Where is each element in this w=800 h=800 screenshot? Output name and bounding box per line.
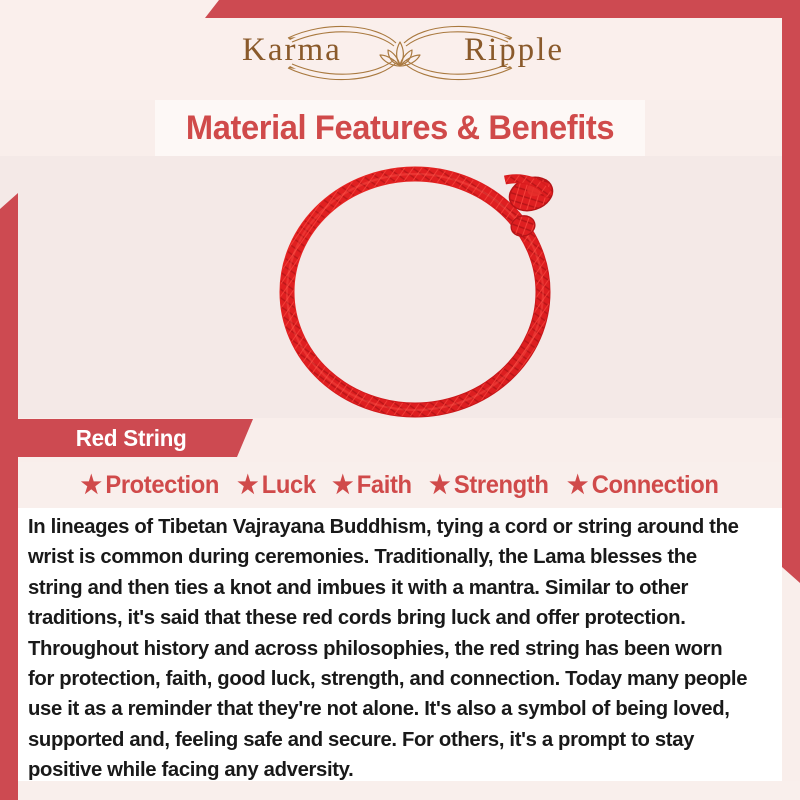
description-panel: In lineages of Tibetan Vajrayana Buddhis… [18,508,782,781]
frame-bar-top [205,0,800,18]
brand-name-first: Karma [242,30,342,70]
product-image-red-string-bracelet [255,156,585,418]
benefit-label: Connection [592,471,719,500]
benefit-item-strength: ★ Strength [424,471,553,500]
brand-logo: Karma Ripple [0,22,800,84]
material-ribbon: Red String [18,419,253,457]
benefit-label: Protection [106,471,220,500]
frame-bar-right [782,0,800,583]
material-name: Red String [76,425,187,452]
material-ribbon-row: Red String [0,414,800,462]
star-icon: ★ [332,473,353,498]
star-icon: ★ [237,473,258,498]
benefit-label: Faith [357,471,412,500]
benefit-item-connection: ★ Connection [562,471,723,500]
footer-strip [0,781,800,800]
title-band: Material Features & Benefits [155,100,645,156]
star-icon: ★ [81,473,102,498]
frame-bar-left [0,193,18,800]
lotus-icon [376,36,424,70]
description-text: In lineages of Tibetan Vajrayana Buddhis… [28,512,749,786]
hero-section [0,156,800,418]
benefits-row: ★ Protection ★ Luck ★ Faith ★ Strength ★… [0,462,800,508]
infographic-page: Karma Ripple Material Features & Benefit… [0,0,800,800]
benefit-item-faith: ★ Faith [327,471,416,500]
star-icon: ★ [567,473,588,498]
benefit-item-luck: ★ Luck [232,471,320,500]
star-icon: ★ [429,473,450,498]
benefit-label: Strength [453,471,548,500]
page-title: Material Features & Benefits [186,109,614,148]
brand-name-second: Ripple [464,30,564,70]
benefit-item-protection: ★ Protection [76,471,224,500]
benefit-label: Luck [262,471,316,500]
